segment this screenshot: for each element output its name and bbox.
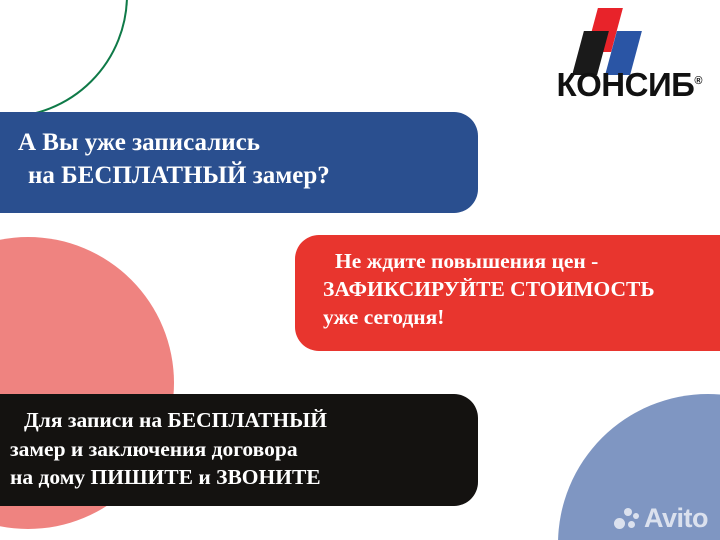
banner-blue-line-1: А Вы уже записались: [18, 126, 460, 159]
avito-watermark-label: Avito: [644, 505, 708, 532]
banner-blue-line-2: на БЕСПЛАТНЫЙ замер?: [18, 159, 460, 192]
banner-red-line-1: Не ждите повышения цен -: [323, 247, 720, 275]
banner-red-line-2: ЗАФИКСИРУЙТЕ СТОИМОСТЬ: [323, 275, 720, 303]
brand-wordmark: КОНСИБ®: [556, 68, 702, 101]
brand-logo: КОНСИБ®: [522, 8, 702, 108]
registered-trademark-symbol: ®: [694, 75, 702, 87]
banner-black-line-3: на дому ПИШИТЕ и ЗВОНИТЕ: [10, 463, 464, 492]
headline-banner-blue: А Вы уже записались на БЕСПЛАТНЫЙ замер?: [0, 112, 478, 213]
headline-banner-red: Не ждите повышения цен - ЗАФИКСИРУЙТЕ СТ…: [295, 235, 720, 351]
headline-banner-black: Для записи на БЕСПЛАТНЫЙ замер и заключе…: [0, 394, 478, 506]
promo-poster: КОНСИБ® А Вы уже записались на БЕСПЛАТНЫ…: [0, 0, 720, 540]
banner-red-line-3: уже сегодня!: [323, 303, 720, 331]
banner-black-line-2: замер и заключения договора: [10, 435, 464, 464]
konsib-logo-mark-icon: [566, 8, 644, 70]
brand-wordmark-text: КОНСИБ: [556, 66, 694, 103]
avito-dots-icon: [614, 507, 640, 531]
banner-black-line-1: Для записи на БЕСПЛАТНЫЙ: [10, 406, 464, 435]
avito-watermark: Avito: [614, 505, 708, 532]
green-ring-decoration: [0, 0, 128, 118]
